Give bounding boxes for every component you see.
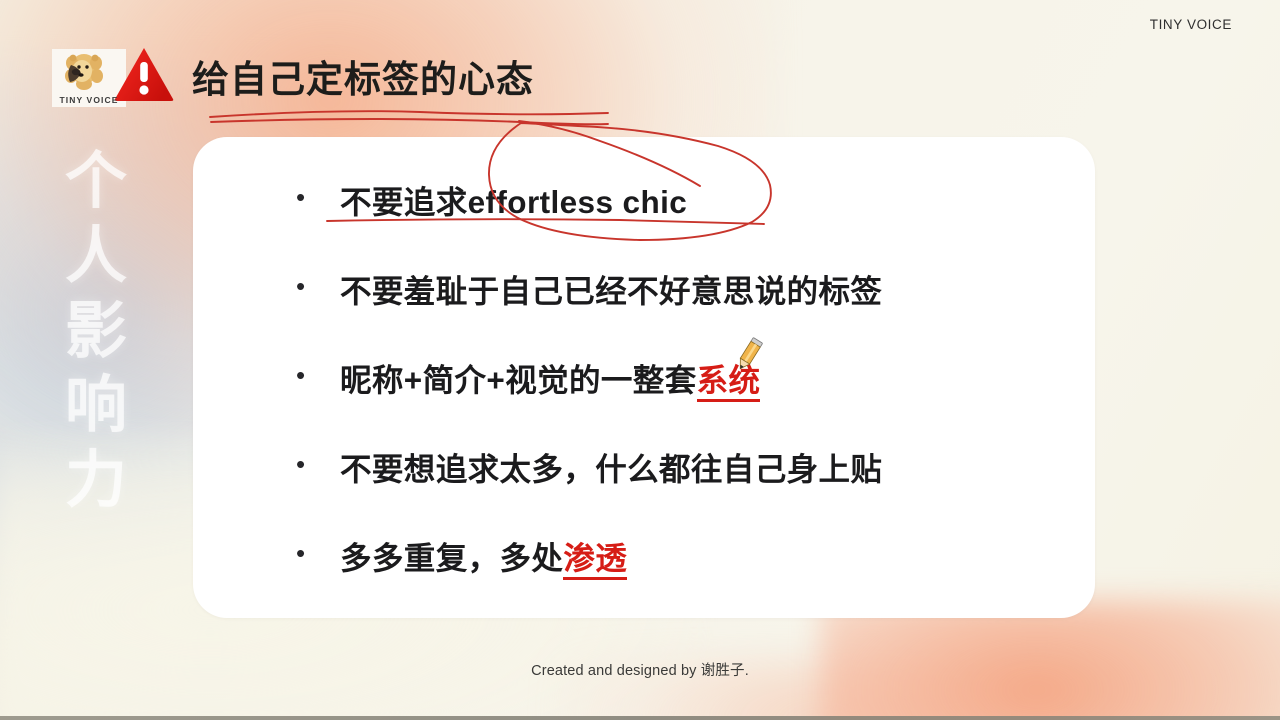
bullet-segment: 多多重复，多处 [340,540,563,576]
bullet-marker: • [296,451,340,477]
watermark-char: 响 [65,376,127,437]
content-card: • 不要追求effortless chic • 不要羞耻于自己已经不好意思说的标… [193,137,1095,618]
bullet-text: 多多重复，多处渗透 [340,533,627,579]
bullet-segment-highlight: 渗透 [563,540,627,580]
bullet-text: 不要羞耻于自己已经不好意思说的标签 [340,266,882,312]
title-underline-stroke-2 [211,119,608,124]
bullet-text: 不要想追求太多，什么都往自己身上贴 [340,444,882,490]
list-item: • 昵称+简介+视觉的一整套系统 [296,355,1069,444]
title-underline-stroke-1 [210,111,608,117]
page-title: 给自己定标签的心态 [192,61,534,98]
watermark-char: 个 [65,152,127,213]
watermark-char: 力 [65,451,127,512]
slide-canvas: 个 人 影 响 力 TINY VOICE [0,0,1280,720]
list-item: • 多多重复，多处渗透 [296,533,1069,622]
list-item: • 不要羞耻于自己已经不好意思说的标签 [296,266,1069,355]
lion-head-icon [61,51,107,96]
footer-credit: Created and designed by 谢胜子. [0,659,1280,680]
bullet-marker: • [296,540,340,566]
bullet-segment: 不要羞耻于自己已经不好意思说的标签 [340,273,882,309]
slide-header: TINY VOICE 给自己定标签的心态 [52,46,534,109]
list-item: • 不要追求effortless chic [296,177,1069,266]
bullet-list: • 不要追求effortless chic • 不要羞耻于自己已经不好意思说的标… [296,177,1069,622]
brand-label-top-right: TINY VOICE [1150,17,1232,32]
vertical-watermark: 个 人 影 响 力 [46,152,146,512]
list-item: • 不要想追求太多，什么都往自己身上贴 [296,444,1069,533]
bullet-segment: 不要想追求太多，什么都往自己身上贴 [340,451,882,487]
bullet-marker: • [296,273,340,299]
bullet-marker: • [296,184,340,210]
bullet-segment: 不要追求effortless chic [340,184,687,220]
watermark-char: 影 [65,302,127,363]
bullet-text: 不要追求effortless chic [340,177,687,223]
logo-wordmark: TINY VOICE [59,95,118,105]
warning-triangle-icon [112,45,176,108]
bullet-text: 昵称+简介+视觉的一整套系统 [340,355,760,401]
bullet-segment: 昵称+简介+视觉的一整套 [340,362,697,398]
bottom-edge-strip [0,716,1280,720]
pencil-cursor-icon [733,337,767,375]
bullet-marker: • [296,362,340,388]
watermark-char: 人 [65,227,127,288]
